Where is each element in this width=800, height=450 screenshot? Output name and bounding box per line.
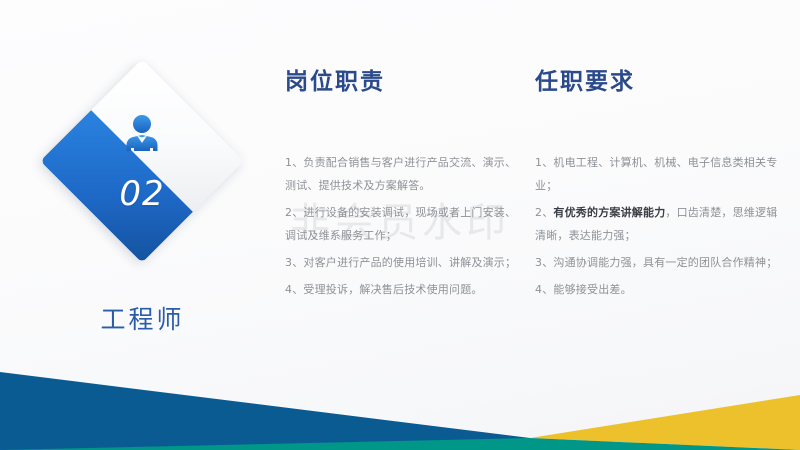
decorative-bands	[0, 360, 800, 450]
badge-diamond: 02	[47, 66, 237, 256]
column-duties: 岗位职责 1、负责配合销售与客户进行产品交流、演示、测试、提供技术及方案解答。 …	[285, 70, 517, 306]
role-title: 工程师	[0, 300, 285, 336]
slide-canvas: 非会员水印 02 工程师 岗位职责 1、负责配合销售与	[0, 0, 800, 450]
column-requirements: 任职要求 1、机电工程、计算机、机械、电子信息类相关专业； 2、有优秀的方案讲解…	[535, 70, 783, 306]
band-navy	[0, 372, 530, 450]
duty-item-1: 1、负责配合销售与客户进行产品交流、演示、测试、提供技术及方案解答。	[285, 151, 517, 197]
requirement-item-3: 3、沟通协调能力强，具有一定的团队合作精神；	[535, 251, 783, 274]
requirement-item-2: 2、有优秀的方案讲解能力，口齿清楚，思维逻辑清晰，表达能力强；	[535, 201, 783, 247]
heading-requirements: 任职要求	[535, 70, 783, 93]
badge-number: 02	[47, 66, 237, 256]
duty-item-2: 2、进行设备的安装调试，现场或者上门安装、调试及维系服务工作；	[285, 201, 517, 247]
duty-item-4: 4、受理投诉，解决售后技术使用问题。	[285, 278, 517, 301]
requirement-item-4: 4、能够接受出差。	[535, 278, 783, 301]
heading-duties: 岗位职责	[285, 70, 517, 93]
duty-item-3: 3、对客户进行产品的使用培训、讲解及演示；	[285, 251, 517, 274]
requirement-item-1: 1、机电工程、计算机、机械、电子信息类相关专业；	[535, 151, 783, 197]
